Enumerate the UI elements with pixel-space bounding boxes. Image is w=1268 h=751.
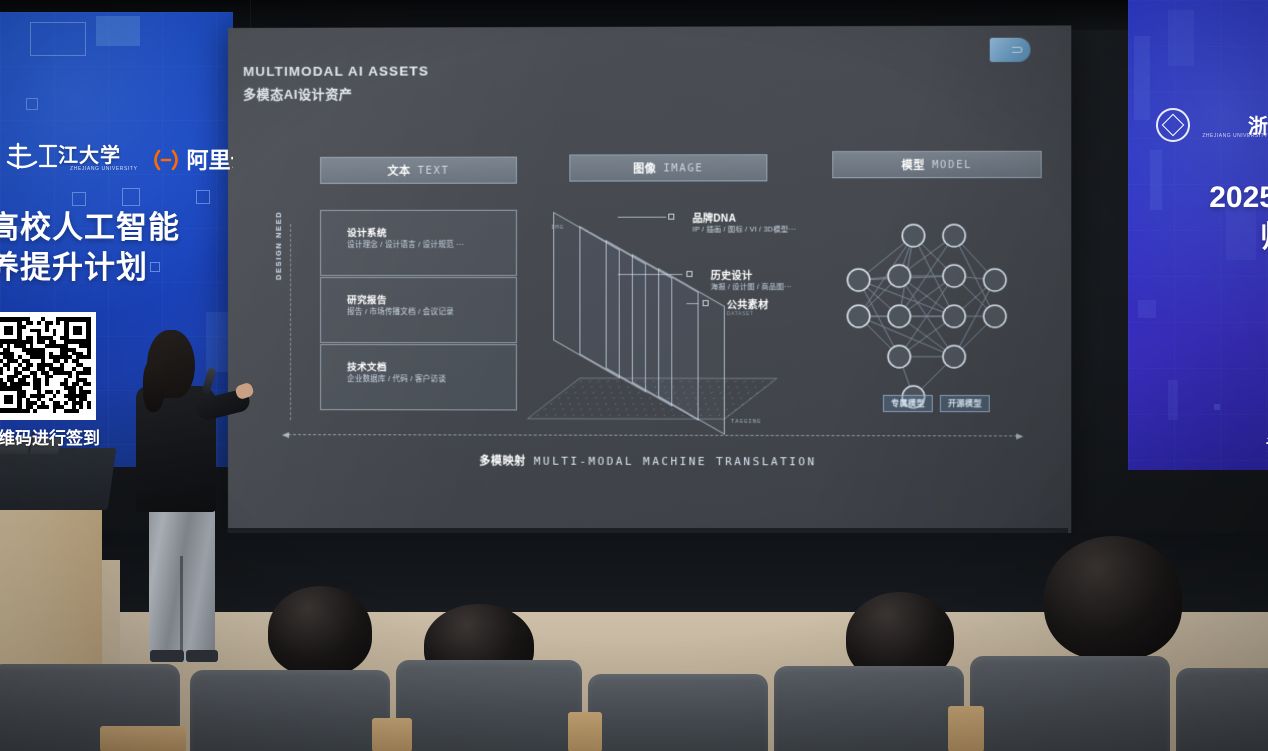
right-banner-title-line1: 2025全 [1209, 172, 1268, 216]
right-banner-university-en: ZHEJIANG UNIVERSITY [1202, 133, 1268, 139]
audience-seat [970, 656, 1170, 751]
slide-footer-caption: 多模映射 MULTI-MODAL MACHINE TRANSLATION [228, 452, 1071, 470]
text-card-subtitle: 报告 / 市场传播文档 / 会议记录 [347, 306, 454, 317]
callout-subtitle: DATASET [727, 311, 754, 317]
presenter-leg-gap [180, 556, 183, 662]
audience-seat [396, 660, 582, 751]
zju-name-en: ZHEJIANG UNIVERSITY [70, 166, 138, 172]
column-header-model: 模型 MODEL [832, 151, 1041, 179]
text-card-title: 技术文档 [347, 359, 387, 373]
callout-title: 历史设计 [711, 267, 753, 282]
text-card-subtitle: 设计理念 / 设计语言 / 设计规范 ··· [347, 239, 464, 250]
aliyun-bracket-icon [150, 148, 182, 170]
conference-photo: 江大学 ZHEJIANG UNIVERSITY 阿里云 国高校人工智能 素养提升… [0, 0, 1268, 751]
presenter-shoe-right [186, 650, 218, 662]
column-header-text: 文本 TEXT [320, 157, 517, 184]
design-need-axis-line [290, 224, 291, 420]
text-card-research-report: 研究报告 报告 / 市场传播文档 / 会议记录 [320, 277, 517, 343]
neural-network-diagram [840, 217, 1023, 419]
zju-logo-icon [6, 142, 60, 176]
image-stack-grid-base [527, 378, 778, 419]
left-banner-title-line2: 素养提升计划 [0, 248, 233, 288]
zju-name-cn: 江大学 [58, 146, 138, 166]
banner-right: 浙 ZHEJIANG UNIVERSITY 2025全 师资 请 [1128, 0, 1268, 470]
column-header-image-en: IMAGE [663, 162, 703, 174]
slide-title-en: MULTIMODAL AI ASSETS [243, 63, 429, 78]
aliyun-name-cn: 阿里云 [187, 143, 233, 175]
slide-title-cn: 多模态AI设计资产 [243, 84, 353, 103]
callout-marker-icon [668, 214, 674, 220]
lectern-top [0, 448, 116, 510]
audience-head [1044, 536, 1182, 660]
text-card-subtitle: 企业数据库 / 代码 / 客户访谈 [347, 373, 446, 384]
lectern-body [0, 496, 102, 671]
callout-marker-icon [703, 300, 709, 306]
audience-seat-armrest [568, 712, 602, 751]
right-banner-title-line2: 师资 [1260, 212, 1268, 256]
model-button-opensource[interactable]: 开源模型 [940, 395, 990, 412]
text-card-title: 研究报告 [347, 292, 387, 306]
audience-seat-armrest [100, 726, 186, 751]
text-card-design-system: 设计系统 设计理念 / 设计语言 / 设计规范 ··· [320, 210, 517, 276]
zju-seal-icon [1156, 108, 1190, 142]
slide-footer-cn: 多模映射 [479, 453, 526, 469]
presentation-screen: MULTIMODAL AI ASSETS 多模态AI设计资产 A C D 文本 … [228, 25, 1071, 535]
left-banner-title: 国高校人工智能 素养提升计划 [0, 208, 233, 289]
presenter-shoe-left [150, 650, 184, 662]
image-stack-base-label: TAGGING [731, 419, 762, 425]
audience-seat [190, 670, 390, 751]
presenter-hair-side [143, 360, 165, 412]
audience-seat [774, 666, 964, 751]
image-layer-stack-diagram: IMG TAGGING [547, 213, 789, 450]
audience-seat-armrest [948, 706, 984, 751]
column-header-image-cn: 图像 [633, 160, 656, 176]
left-banner-title-line1: 国高校人工智能 [0, 208, 233, 248]
audience-seat-armrest [372, 718, 412, 751]
audience-seat [1176, 668, 1268, 751]
text-card-title: 设计系统 [347, 225, 387, 239]
column-header-image: 图像 IMAGE [569, 154, 767, 181]
callout-subtitle: 海报 / 设计图 / 商品图··· [711, 282, 792, 292]
callout-title: 品牌DNA [692, 210, 736, 225]
text-card-technical-doc: 技术文档 企业数据库 / 代码 / 客户访谈 [320, 344, 517, 410]
audience-seat [588, 674, 768, 751]
callout-title: 公共素材 [727, 296, 769, 311]
callout-subtitle: IP / 插画 / 图标 / VI / 3D模型··· [692, 225, 796, 235]
column-header-text-en: TEXT [418, 164, 450, 176]
callout-marker-icon [686, 271, 692, 277]
slide-footer-en: MULTI-MODAL MACHINE TRANSLATION [534, 455, 817, 469]
audience-head [268, 586, 372, 676]
model-button-proprietary[interactable]: 专属模型 [883, 395, 933, 412]
design-need-axis-label: DESIGN NEED [274, 211, 283, 280]
column-header-text-cn: 文本 [387, 162, 410, 178]
column-header-model-en: MODEL [932, 158, 972, 170]
column-header-model-cn: 模型 [901, 156, 924, 172]
aliyun-logo: 阿里云 [150, 143, 233, 175]
d-pill-logo-icon [990, 38, 1031, 62]
signin-qr-code [0, 312, 96, 420]
left-banner-logos: 江大学 ZHEJIANG UNIVERSITY 阿里云 [0, 138, 233, 180]
